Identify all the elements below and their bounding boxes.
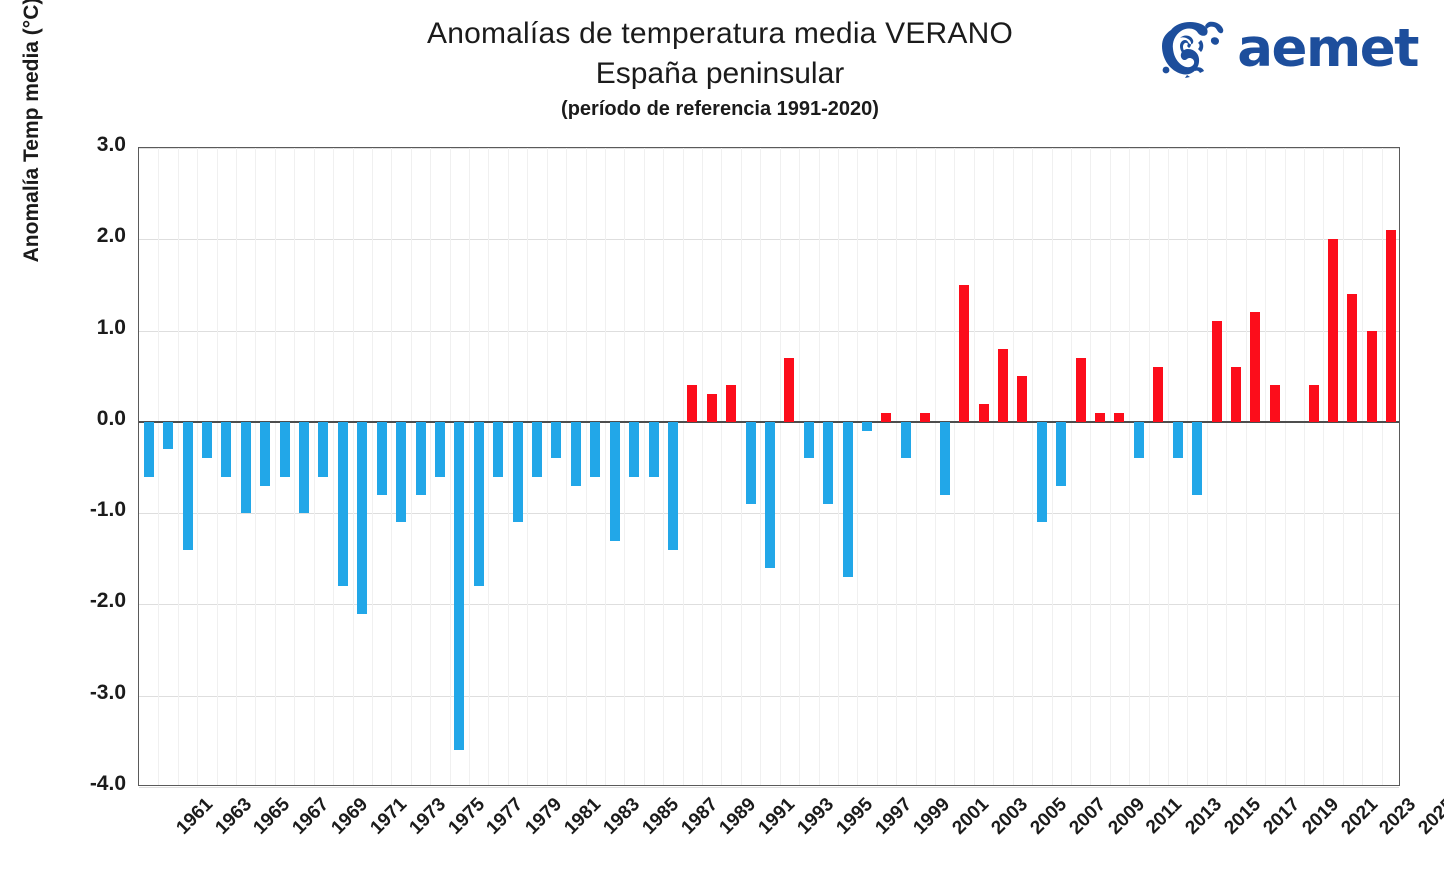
x-axis-tick-label: 1983 [599,794,644,839]
gridline-vertical [275,148,276,785]
gridline-vertical [799,148,800,785]
bar-1974 [396,422,406,522]
x-axis-tick-label: 1985 [638,794,683,839]
gridline-vertical [954,148,955,785]
bar-2013 [1153,367,1163,422]
gridline-vertical [1382,148,1383,785]
x-axis-tick-label: 1971 [366,794,411,839]
gridline-vertical [1226,148,1227,785]
x-axis-tick-label: 1981 [560,794,605,839]
x-axis-tick-label: 1977 [483,794,528,839]
gridline-vertical [916,148,917,785]
gridline-vertical [1207,148,1208,785]
bar-1967 [260,422,270,486]
gridline-vertical [702,148,703,785]
bar-1977 [454,422,464,751]
gridline-vertical [1052,148,1053,785]
x-axis-tick-label: 1987 [677,794,722,839]
bar-1978 [474,422,484,586]
x-axis-tick-label: 2001 [949,794,994,839]
bar-2008 [1056,422,1066,486]
gridline-vertical [411,148,412,785]
gridline-vertical [469,148,470,785]
bar-2021 [1309,385,1319,422]
x-axis-tick-label: 2005 [1026,794,1071,839]
x-axis-tick-label: 1973 [405,794,450,839]
bar-1990 [707,394,717,421]
gridline-vertical [508,148,509,785]
gridline-vertical [1304,148,1305,785]
y-axis-tick-label: -1.0 [16,498,126,522]
bar-2002 [940,422,950,495]
gridline-vertical [1343,148,1344,785]
bar-2006 [1017,376,1027,422]
x-axis-tick-label: 1979 [522,794,567,839]
x-axis-tick-label: 2017 [1259,794,1304,839]
x-axis-tick-label: 2011 [1143,794,1188,839]
gridline-vertical [1323,148,1324,785]
gridline-vertical [1168,148,1169,785]
gridline-vertical [547,148,548,785]
gridline-vertical [1187,148,1188,785]
gridline-vertical [1071,148,1072,785]
bar-1966 [241,422,251,513]
bar-1965 [221,422,231,477]
bar-2016 [1212,321,1222,421]
bar-1984 [590,422,600,477]
gridline-vertical [838,148,839,785]
y-axis-tick-label: -4.0 [16,772,126,796]
bar-1969 [299,422,309,513]
gridline-vertical [566,148,567,785]
gridline-vertical [217,148,218,785]
x-axis-tick-label: 2013 [1182,794,1227,839]
plot-area [138,147,1400,786]
bar-2014 [1173,422,1183,459]
bar-1993 [765,422,775,568]
gridline-vertical [1110,148,1111,785]
bar-2025 [1386,230,1396,422]
x-axis-tick-label: 1967 [289,794,334,839]
gridline-horizontal [139,787,1399,788]
gridline-vertical [1090,148,1091,785]
gridline-vertical [294,148,295,785]
bar-1991 [726,385,736,422]
y-axis-tick-label: 2.0 [16,224,126,248]
gridline-vertical [721,148,722,785]
bar-1987 [649,422,659,477]
gridline-vertical [877,148,878,785]
bar-1988 [668,422,678,550]
bar-1999 [881,413,891,422]
gridline-vertical [624,148,625,785]
bar-2019 [1270,385,1280,422]
gridline-vertical [1013,148,1014,785]
bar-1981 [532,422,542,477]
gridline-vertical [741,148,742,785]
bar-2009 [1076,358,1086,422]
gridline-vertical [372,148,373,785]
gridline-vertical [450,148,451,785]
gridline-vertical [993,148,994,785]
bar-2022 [1328,239,1338,422]
bar-1975 [416,422,426,495]
x-axis-tick-label: 2021 [1337,794,1382,839]
bar-1973 [377,422,387,495]
bar-1963 [183,422,193,550]
bar-1964 [202,422,212,459]
x-axis-tick-label: 1999 [910,794,955,839]
gridline-vertical [178,148,179,785]
bar-1997 [843,422,853,577]
bar-2012 [1134,422,1144,459]
bar-1989 [687,385,697,422]
bar-1994 [784,358,794,422]
x-axis-tick-label: 1975 [444,794,489,839]
y-axis-tick-label: 3.0 [16,133,126,157]
bar-2005 [998,349,1008,422]
gridline-vertical [1149,148,1150,785]
bar-1992 [746,422,756,504]
bar-2024 [1367,331,1377,422]
bar-1985 [610,422,620,541]
gridline-vertical [255,148,256,785]
gridline-vertical [857,148,858,785]
gridline-vertical [1285,148,1286,785]
x-axis-tick-label: 2019 [1298,794,1343,839]
x-axis-tick-label: 2025 [1415,794,1444,839]
bar-1968 [280,422,290,477]
y-axis-tick-label: -2.0 [16,589,126,613]
gridline-vertical [663,148,664,785]
gridline-horizontal [139,696,1399,697]
bar-1998 [862,422,872,431]
x-axis-tick-label: 2015 [1221,794,1266,839]
gridline-vertical [1246,148,1247,785]
bar-2004 [979,404,989,422]
bar-1972 [357,422,367,614]
gridline-vertical [314,148,315,785]
x-axis-tick-label: 2023 [1376,794,1421,839]
x-axis-tick-label: 1991 [755,794,800,839]
bar-2007 [1037,422,1047,522]
bar-1971 [338,422,348,586]
x-axis-tick-label: 1961 [172,794,217,839]
bar-1979 [493,422,503,477]
chart-area: Anomalía Temp media (°C) 3.02.01.00.0-1.… [0,0,1444,887]
gridline-horizontal [139,239,1399,240]
bar-1995 [804,422,814,459]
bar-2003 [959,285,969,422]
gridline-vertical [1129,148,1130,785]
x-axis-tick-label: 2003 [988,794,1033,839]
gridline-vertical [683,148,684,785]
gridline-vertical [896,148,897,785]
x-axis-tick-label: 1969 [327,794,372,839]
gridline-vertical [430,148,431,785]
x-axis-tick-label: 1997 [871,794,916,839]
bar-2018 [1250,312,1260,422]
y-axis-tick-label: 0.0 [16,407,126,431]
gridline-vertical [333,148,334,785]
bar-1980 [513,422,523,522]
gridline-vertical [586,148,587,785]
gridline-vertical [353,148,354,785]
gridline-vertical [236,148,237,785]
bar-2017 [1231,367,1241,422]
bar-2001 [920,413,930,422]
bar-1976 [435,422,445,477]
gridline-vertical [488,148,489,785]
bar-1983 [571,422,581,486]
y-axis-tick-label: 1.0 [16,316,126,340]
bar-2011 [1114,413,1124,422]
bar-1982 [551,422,561,459]
bar-2010 [1095,413,1105,422]
x-axis-tick-label: 1965 [250,794,295,839]
gridline-vertical [197,148,198,785]
bar-1970 [318,422,328,477]
gridline-vertical [605,148,606,785]
bar-2015 [1192,422,1202,495]
gridline-vertical [644,148,645,785]
gridline-horizontal [139,331,1399,332]
gridline-vertical [1032,148,1033,785]
gridline-vertical [1265,148,1266,785]
gridline-vertical [1362,148,1363,785]
bar-1962 [163,422,173,449]
bar-1986 [629,422,639,477]
bar-2000 [901,422,911,459]
gridline-horizontal [139,604,1399,605]
x-axis-tick-label: 1989 [716,794,761,839]
gridline-vertical [974,148,975,785]
bar-1961 [144,422,154,477]
gridline-vertical [819,148,820,785]
gridline-horizontal [139,148,1399,149]
gridline-vertical [760,148,761,785]
x-axis-tick-label: 1993 [793,794,838,839]
x-axis-tick-label: 1995 [832,794,877,839]
x-axis-tick-label: 1963 [211,794,256,839]
bar-1996 [823,422,833,504]
gridline-vertical [391,148,392,785]
x-axis-tick-label: 2009 [1104,794,1149,839]
gridline-vertical [780,148,781,785]
gridline-vertical [527,148,528,785]
y-axis-tick-label: -3.0 [16,681,126,705]
gridline-vertical [935,148,936,785]
gridline-vertical [158,148,159,785]
x-axis-tick-label: 2007 [1065,794,1110,839]
bar-2023 [1347,294,1357,422]
